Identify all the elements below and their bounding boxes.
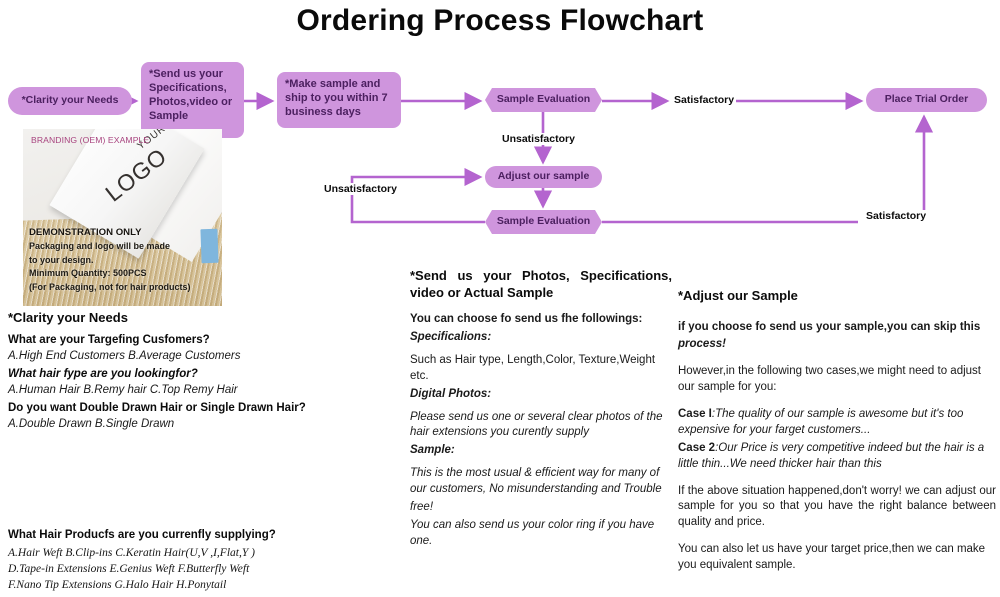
mid-intro: You can choose fo send us fhe followings… bbox=[410, 312, 672, 328]
products-line: D.Tape-in Extensions E.Genius Weft F.But… bbox=[8, 561, 408, 577]
left-question-3: Do you want Double Drawn Hair or Single … bbox=[8, 401, 398, 417]
left-question-1: What are your Targefing Cusfomers? bbox=[8, 333, 398, 349]
flow-node-clarity-your-needs[interactable]: *Clarity your Needs bbox=[8, 87, 132, 115]
photo-branding-label: BRANDING (OEM) EXAMPLE bbox=[31, 135, 149, 145]
case-2-label: Case 2 bbox=[678, 442, 715, 454]
right-however-line: However,in the following two cases,we mi… bbox=[678, 364, 996, 396]
right-case-2: Case 2:Our Price is very competitive ind… bbox=[678, 441, 996, 473]
edge-label-satisfactory-1: Satisfactory bbox=[672, 94, 736, 106]
right-adjust-line: If the above situation happened,don't wo… bbox=[678, 484, 996, 532]
mid-subheading-sample: Sample: bbox=[410, 443, 672, 459]
mid-body-specifications: Such as Hair type, Length,Color, Texture… bbox=[410, 353, 672, 385]
photo-caption-lines: Packaging and logo will be made to your … bbox=[29, 240, 221, 295]
photo-caption-line: Packaging and logo will be made bbox=[29, 240, 221, 254]
flow-node-make-sample[interactable]: *Make sample and ship to you within 7 bu… bbox=[277, 72, 401, 128]
edge-label-satisfactory-2: Satisfactory bbox=[864, 210, 928, 222]
case-1-text: :The quality of our sample is awesome bu… bbox=[678, 408, 963, 436]
section-clarity-your-needs: *Clarity your Needs What are your Targef… bbox=[8, 310, 398, 435]
products-line: F.Nano Tip Extensions G.Halo Hair H.Pony… bbox=[8, 577, 408, 593]
photo-caption-line: Minimum Quantity: 500PCS bbox=[29, 267, 221, 281]
mid-body-sample: This is the most usual & efficient way f… bbox=[410, 466, 672, 498]
edge-label-unsatisfactory-1: Unsatisfactory bbox=[500, 133, 577, 145]
mid-body-color-ring: You can also send us your color ring if … bbox=[410, 518, 672, 550]
flow-node-sample-evaluation-2[interactable]: Sample Evaluation bbox=[485, 210, 602, 234]
right-target-price-line: You can also let us have your target pri… bbox=[678, 542, 996, 574]
branding-example-photo: YOUR LOGO BRANDING (OEM) EXAMPLE DEMONST… bbox=[23, 129, 222, 306]
edge-label-unsatisfactory-2: Unsatisfactory bbox=[322, 183, 399, 195]
left-answer-3: A.Double Drawn B.Single Drawn bbox=[8, 417, 398, 433]
photo-caption-line: (For Packaging, not for hair products) bbox=[29, 281, 221, 295]
mid-subheading-specifications: Specificalions: bbox=[410, 330, 672, 346]
section-send-us-your-photos: *Send us your Photos, Specifications, vi… bbox=[410, 268, 672, 551]
left-answer-1: A.High End Customers B.Average Customers bbox=[8, 349, 398, 365]
case-2-text: :Our Price is very competitive indeed bu… bbox=[678, 442, 984, 470]
flow-node-adjust-our-sample[interactable]: Adjust our sample bbox=[485, 166, 602, 188]
left-heading: *Clarity your Needs bbox=[8, 310, 398, 327]
photo-caption-line: to your design. bbox=[29, 254, 221, 268]
photo-demonstration-label: DEMONSTRATION ONLY bbox=[29, 227, 141, 238]
right-skip-process: process! bbox=[678, 337, 996, 353]
right-case-1: Case I:The quality of our sample is awes… bbox=[678, 407, 996, 439]
section-hair-products: What Hair Producfs are you currenfly sup… bbox=[8, 528, 408, 594]
products-line: A.Hair Weft B.Clip-ins C.Keratin Hair(U,… bbox=[8, 545, 408, 561]
left-answer-2: A.Human Hair B.Remy hair C.Top Remy Hair bbox=[8, 383, 398, 399]
flow-node-place-trial-order[interactable]: Place Trial Order bbox=[866, 88, 987, 112]
right-skip-line: if you choose fo send us your sample,you… bbox=[678, 320, 996, 336]
case-1-label: Case I bbox=[678, 408, 712, 420]
products-heading: What Hair Producfs are you currenfly sup… bbox=[8, 528, 408, 544]
mid-body-digital-photos: Please send us one or several clear phot… bbox=[410, 410, 672, 442]
left-question-2: What hair fype are you lookingfor? bbox=[8, 367, 398, 383]
right-heading: *Adjust our Sample bbox=[678, 288, 996, 305]
flow-node-send-us-specifications[interactable]: *Send us your Specifications, Photos,vid… bbox=[141, 62, 244, 138]
section-adjust-our-sample: *Adjust our Sample if you choose fo send… bbox=[678, 288, 996, 576]
mid-heading: *Send us your Photos, Specifications, vi… bbox=[410, 268, 672, 301]
page-title: Ordering Process Flowchart bbox=[0, 4, 1000, 38]
mid-subheading-digital-photos: Digital Photos: bbox=[410, 387, 672, 403]
mid-body-free: free! bbox=[410, 500, 672, 516]
flow-node-sample-evaluation-1[interactable]: Sample Evaluation bbox=[485, 88, 602, 112]
